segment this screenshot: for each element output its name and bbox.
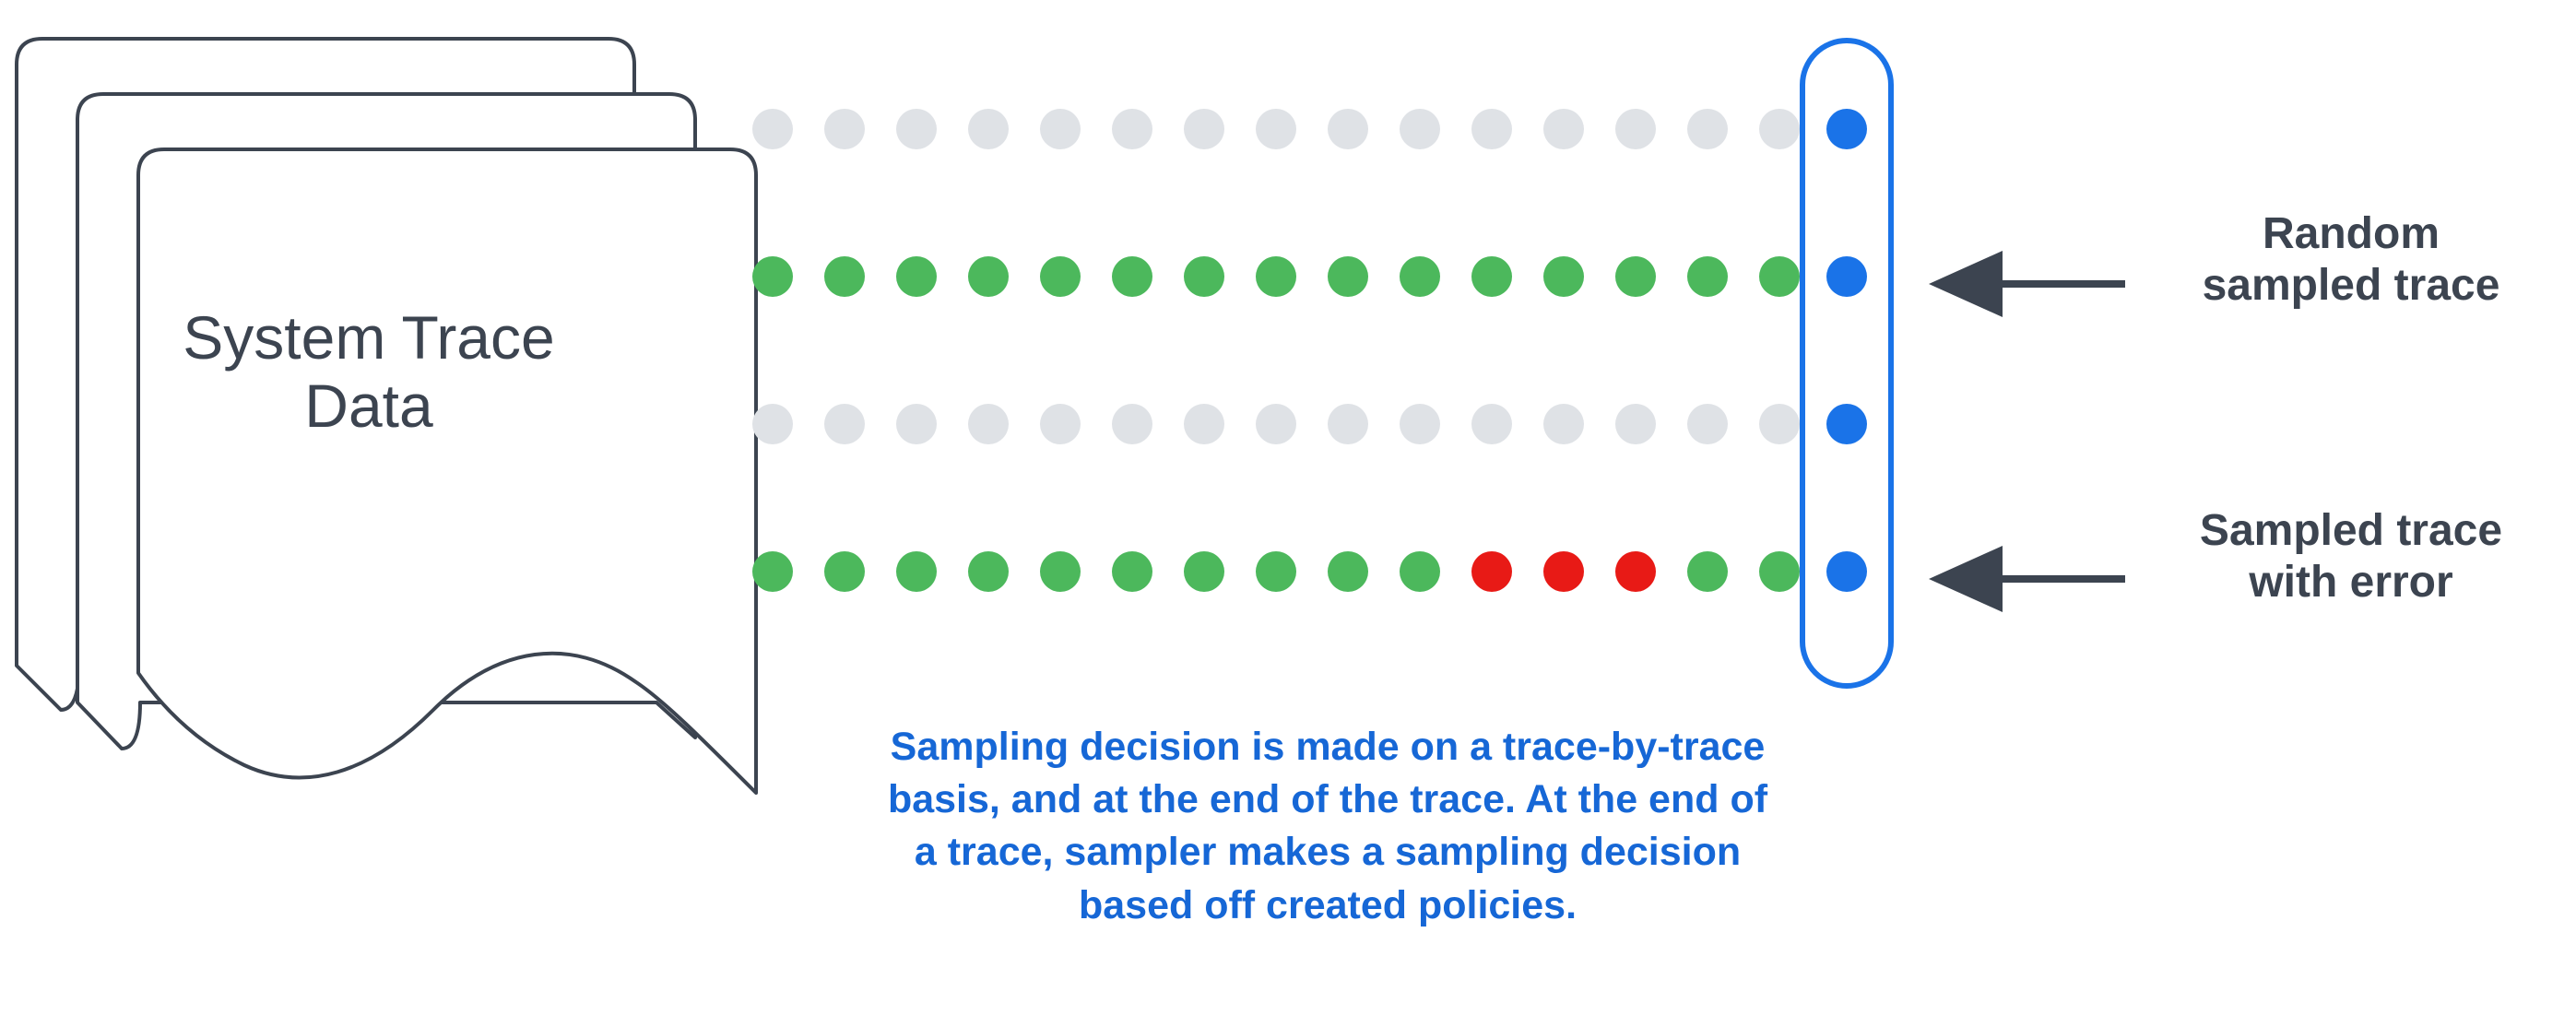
trace-row-1 xyxy=(752,109,1867,149)
trace-span-dot-gray xyxy=(1471,404,1512,444)
trace-span-dot-gray xyxy=(1543,404,1584,444)
trace-dot-rows xyxy=(752,109,1867,592)
trace-span-dot-gray xyxy=(1400,109,1440,149)
trace-span-dot-gray xyxy=(1328,109,1368,149)
trace-span-dot-gray xyxy=(1328,404,1368,444)
trace-span-dot-gray xyxy=(1687,404,1728,444)
trace-span-dot-gray xyxy=(1040,404,1081,444)
trace-span-dot-green xyxy=(896,256,937,297)
trace-span-dot-green xyxy=(1112,256,1152,297)
trace-span-dot-gray xyxy=(1687,109,1728,149)
trace-span-dot-gray xyxy=(968,404,1009,444)
trace-span-dot-green xyxy=(1040,256,1081,297)
trace-span-dot-gray xyxy=(1256,109,1296,149)
trace-span-dot-gray xyxy=(824,404,865,444)
trace-span-dot-gray xyxy=(1759,404,1800,444)
trace-span-dot-gray xyxy=(752,109,793,149)
trace-span-dot-gray xyxy=(1400,404,1440,444)
trace-span-dot-gray xyxy=(1759,109,1800,149)
trace-span-dot-green xyxy=(1543,256,1584,297)
trace-span-dot-green xyxy=(1256,256,1296,297)
annotation-label-random-sampled-trace: Random sampled trace xyxy=(2139,208,2563,312)
trace-span-dot-green xyxy=(1687,256,1728,297)
trace-span-dot-green xyxy=(968,551,1009,592)
trace-span-dot-green xyxy=(1256,551,1296,592)
trace-span-dot-gray xyxy=(1471,109,1512,149)
trace-span-dot-green xyxy=(824,256,865,297)
trace-terminal-dot-blue xyxy=(1826,109,1867,149)
annotation-label-sampled-trace-with-error: Sampled trace with error xyxy=(2139,505,2563,608)
trace-span-dot-gray xyxy=(824,109,865,149)
trace-span-dot-green xyxy=(1759,256,1800,297)
trace-span-dot-gray xyxy=(1256,404,1296,444)
diagram-canvas: System Trace Data Random sampled trace S… xyxy=(0,0,2576,1027)
trace-span-dot-green xyxy=(752,551,793,592)
trace-span-dot-gray xyxy=(968,109,1009,149)
trace-span-dot-green xyxy=(968,256,1009,297)
trace-span-dot-gray xyxy=(1543,109,1584,149)
trace-span-dot-red xyxy=(1615,551,1656,592)
trace-span-dot-red xyxy=(1471,551,1512,592)
trace-span-dot-green xyxy=(1184,256,1224,297)
trace-span-dot-gray xyxy=(752,404,793,444)
trace-span-dot-green xyxy=(1759,551,1800,592)
trace-span-dot-red xyxy=(1543,551,1584,592)
trace-span-dot-green xyxy=(1040,551,1081,592)
trace-terminal-dot-blue xyxy=(1826,551,1867,592)
sampling-decision-caption: Sampling decision is made on a trace-by-… xyxy=(756,721,1899,932)
trace-span-dot-green xyxy=(1400,551,1440,592)
arrow-sampled-trace-with-error xyxy=(1929,546,2125,612)
trace-span-dot-green xyxy=(1400,256,1440,297)
trace-span-dot-gray xyxy=(1184,404,1224,444)
trace-row-4 xyxy=(752,551,1867,592)
trace-span-dot-gray xyxy=(1040,109,1081,149)
trace-terminal-dot-blue xyxy=(1826,256,1867,297)
trace-terminal-dot-blue xyxy=(1826,404,1867,444)
arrow-random-sampled-trace xyxy=(1929,251,2125,317)
trace-span-dot-gray xyxy=(1112,109,1152,149)
trace-span-dot-gray xyxy=(1184,109,1224,149)
trace-row-2 xyxy=(752,256,1867,297)
trace-span-dot-gray xyxy=(1615,109,1656,149)
trace-span-dot-green xyxy=(1328,551,1368,592)
trace-span-dot-gray xyxy=(1615,404,1656,444)
trace-span-dot-green xyxy=(1471,256,1512,297)
trace-span-dot-green xyxy=(752,256,793,297)
trace-span-dot-green xyxy=(1184,551,1224,592)
trace-span-dot-green xyxy=(896,551,937,592)
trace-span-dot-green xyxy=(1328,256,1368,297)
trace-span-dot-gray xyxy=(896,109,937,149)
trace-span-dot-green xyxy=(824,551,865,592)
trace-span-dot-green xyxy=(1687,551,1728,592)
trace-span-dot-green xyxy=(1615,256,1656,297)
trace-span-dot-gray xyxy=(896,404,937,444)
trace-span-dot-gray xyxy=(1112,404,1152,444)
trace-span-dot-green xyxy=(1112,551,1152,592)
trace-row-3 xyxy=(752,404,1867,444)
